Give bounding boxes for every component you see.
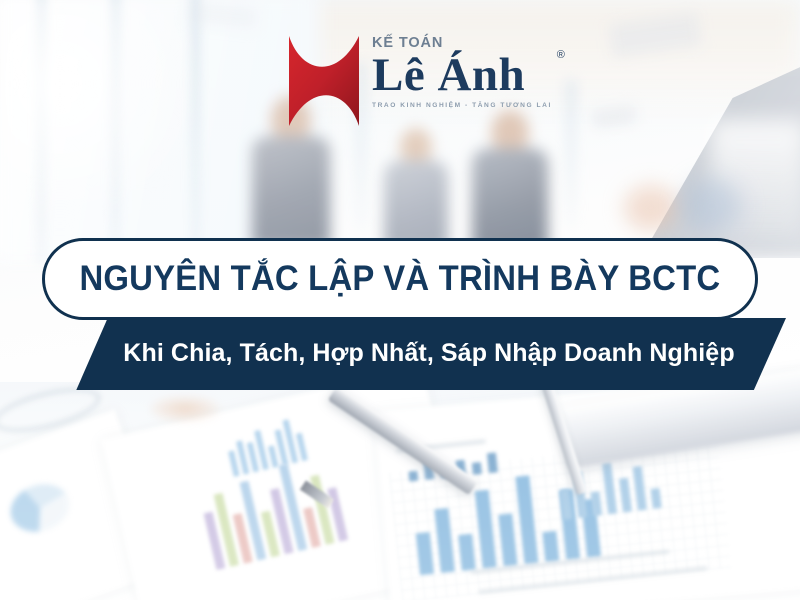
- person-silhouette-right: [468, 110, 552, 250]
- person-silhouette-center: [380, 128, 452, 248]
- poster-canvas: KẾ TOÁN Lê Ánh ® TRAO KINH NGHIỆM - TĂNG…: [0, 0, 800, 600]
- brand-logo: KẾ TOÁN Lê Ánh ® TRAO KINH NGHIỆM - TĂNG…: [286, 33, 546, 131]
- person-body: [384, 160, 448, 250]
- glass-partition: [566, 80, 576, 230]
- cup-blurred: [150, 396, 220, 422]
- brand-tagline: TRAO KINH NGHIỆM - TĂNG TƯƠNG LAI: [372, 102, 552, 109]
- page-title: NGUYÊN TẮC LẬP VÀ TRÌNH BÀY BCTC: [80, 259, 721, 299]
- window-light-glow: [0, 0, 240, 240]
- background-blur-blob: [682, 178, 742, 234]
- brand-name: Lê Ánh: [372, 52, 552, 100]
- title-pill: NGUYÊN TẮC LẬP VÀ TRÌNH BÀY BCTC: [42, 238, 758, 320]
- subtitle-text: Khi Chia, Tách, Hợp Nhất, Sáp Nhập Doanh…: [123, 339, 734, 370]
- subtitle-banner: Khi Chia, Tách, Hợp Nhất, Sáp Nhập Doanh…: [72, 318, 786, 390]
- le-anh-logo-mark-icon: [286, 33, 362, 129]
- background-blur-blob: [624, 185, 678, 231]
- person-body: [472, 148, 548, 252]
- brand-logo-text: KẾ TOÁN Lê Ánh ® TRAO KINH NGHIỆM - TĂNG…: [372, 33, 552, 109]
- registered-trademark-icon: ®: [557, 49, 565, 61]
- person-body: [252, 136, 330, 248]
